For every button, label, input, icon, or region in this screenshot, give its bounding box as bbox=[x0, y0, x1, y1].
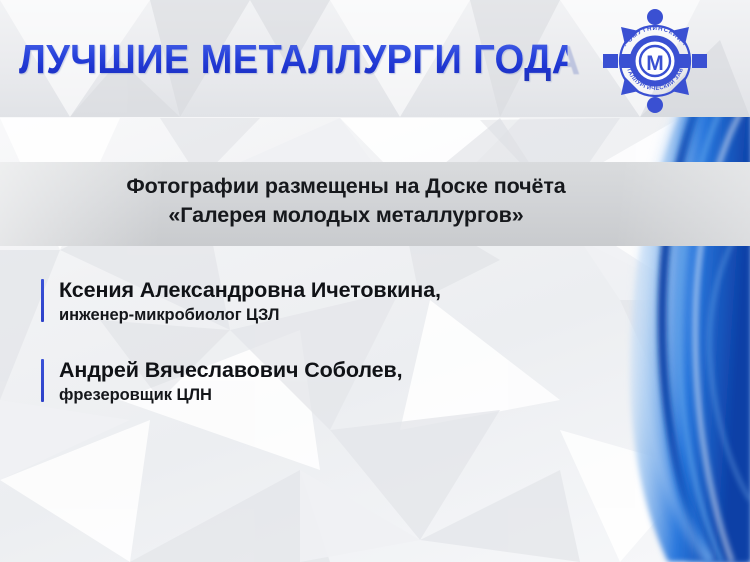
honoree-name: Ксения Александровна Ичетовкина, bbox=[59, 276, 601, 304]
honoree-name: Андрей Вячеславович Соболев, bbox=[59, 356, 601, 384]
accent-bar bbox=[41, 359, 44, 402]
subtitle-line-1: Фотографии размещены на Доске почёта bbox=[126, 174, 565, 198]
honoree-role: фрезеровщик ЦЛН bbox=[59, 384, 601, 406]
subtitle: Фотографии размещены на Доске почёта «Га… bbox=[0, 172, 692, 230]
list-item: Ксения Александровна Ичетовкина, инженер… bbox=[41, 276, 601, 326]
slide-canvas: ЛУЧШИЕ МЕТАЛЛУРГИ ГОДА ЛУЧШИЕ МЕТАЛЛУРГИ… bbox=[0, 0, 750, 562]
list-item: Андрей Вячеславович Соболев, фрезеровщик… bbox=[41, 356, 601, 406]
accent-bar bbox=[41, 279, 44, 322]
logo-center-letter: М bbox=[646, 52, 664, 75]
honoree-list: Ксения Александровна Ичетовкина, инженер… bbox=[41, 276, 601, 406]
subtitle-line-2: «Галерея молодых металлургов» bbox=[0, 201, 692, 230]
omutninsk-metallurgical-plant-logo-icon: М · ОМУТНИНСКИЙ · МЕТАЛЛУРГИЧЕСКИЙ ЗАВОД bbox=[601, 7, 709, 115]
header-band: ЛУЧШИЕ МЕТАЛЛУРГИ ГОДА ЛУЧШИЕ МЕТАЛЛУРГИ… bbox=[0, 0, 750, 117]
page-title: ЛУЧШИЕ МЕТАЛЛУРГИ ГОДА bbox=[19, 36, 568, 82]
honoree-role: инженер-микробиолог ЦЗЛ bbox=[59, 304, 601, 326]
